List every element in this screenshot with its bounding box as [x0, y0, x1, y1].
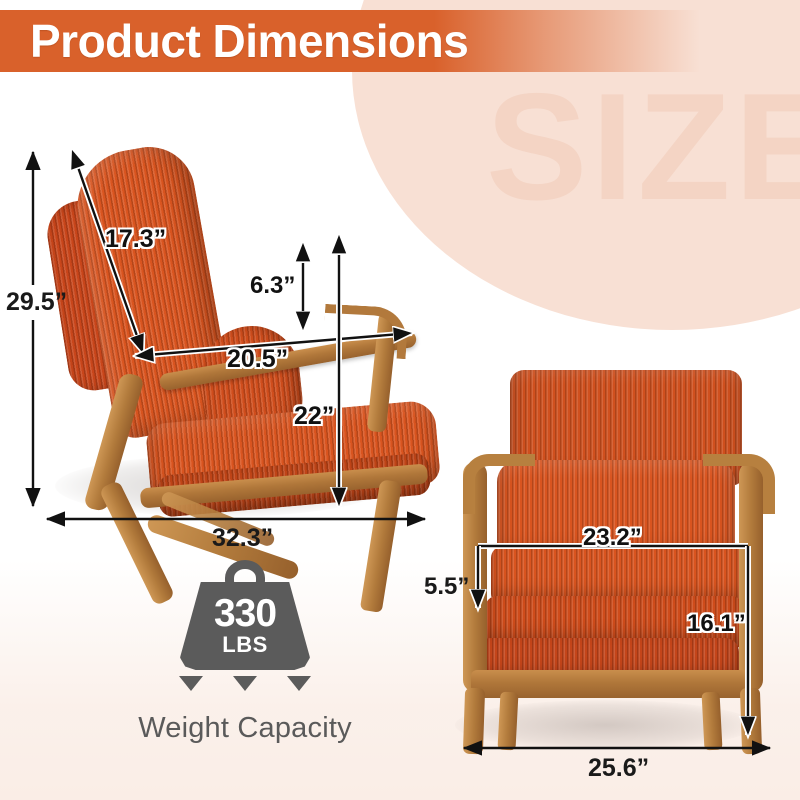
dim-label-seat-depth: 20.5”: [227, 345, 288, 374]
dim-label-armrest-gap: 6.3”: [250, 272, 295, 300]
side-view-chair-illustration: [40, 140, 430, 520]
dim-label-seat-cushion-thickness: 5.5”: [424, 573, 469, 601]
front-view-chair-illustration: [455, 370, 765, 740]
dim-label-armrest-height: 22”: [294, 402, 334, 431]
front-right-leg: [701, 692, 722, 751]
weight-amount: 330: [180, 594, 310, 633]
side-arm-top-curve: [323, 304, 409, 359]
weight-unit: LBS: [180, 634, 310, 656]
dim-label-backrest-height: 17.3”: [105, 225, 166, 254]
dim-label-overall-height: 29.5”: [6, 288, 67, 317]
front-right-outer-leg: [740, 688, 762, 755]
weight-icon: 330 LBS: [180, 560, 310, 670]
triangle-down-icon: [179, 676, 203, 691]
page-title: Product Dimensions: [30, 12, 468, 70]
front-left-outer-leg: [463, 688, 485, 755]
weight-arrow-group: [120, 676, 370, 700]
front-right-arm-curve: [703, 454, 775, 514]
weight-capacity-badge: 330 LBS Weight Capacity: [120, 560, 370, 775]
triangle-down-icon: [287, 676, 311, 691]
weight-capacity-caption: Weight Capacity: [120, 712, 370, 745]
dim-label-overall-depth: 32.3”: [212, 524, 273, 553]
front-left-arm-curve: [463, 454, 535, 514]
dim-label-seat-depth-front: 16.1”: [687, 610, 746, 638]
front-left-leg: [497, 692, 518, 751]
dim-label-seat-width: 23.2”: [583, 524, 642, 552]
triangle-down-icon: [233, 676, 257, 691]
infographic-canvas: SIZE Product Dimensions: [0, 0, 800, 800]
dim-label-overall-width: 25.6”: [588, 754, 649, 783]
size-watermark-text: SIZE: [486, 60, 800, 235]
